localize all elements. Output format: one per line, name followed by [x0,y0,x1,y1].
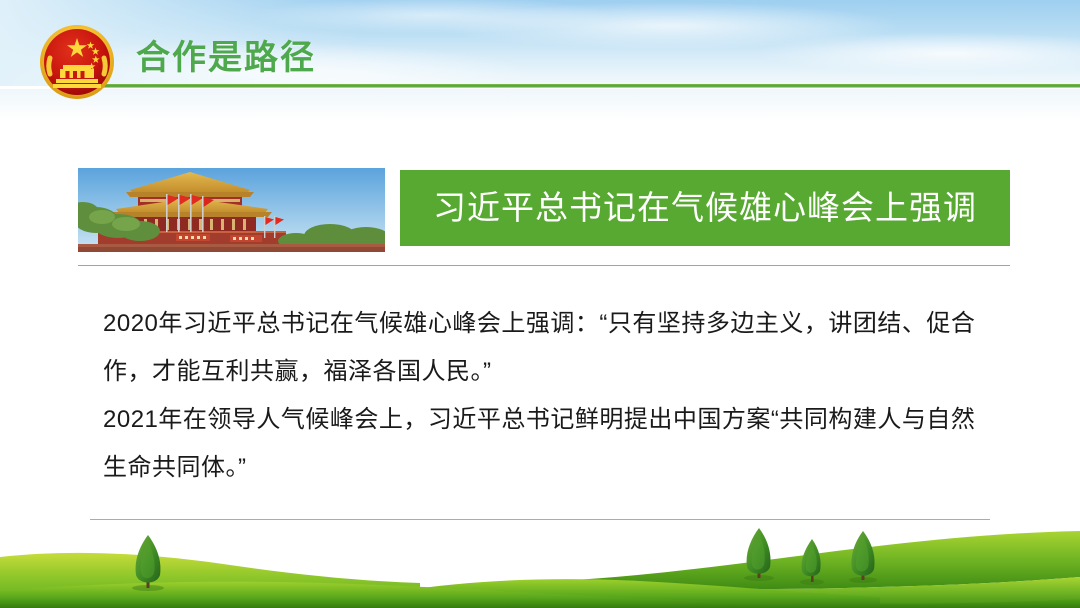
footer-divider [90,519,990,520]
section-banner: 习近平总书记在气候雄心峰会上强调 [400,170,1010,246]
section-banner-text: 习近平总书记在气候雄心峰会上强调 [433,188,977,228]
paragraph-1: 2020年习近平总书记在气候雄心峰会上强调：“只有坚持多边主义，讲团结、促合作，… [103,300,993,396]
header-green-rule-right [540,84,1080,88]
slide-canvas: 合作是路径 [0,0,1080,608]
slide-header: 合作是路径 [0,0,1080,120]
footer-decoration [0,495,1080,608]
tiananmen-gate-photo [78,168,385,252]
content-divider [78,265,1010,266]
header-lower-fade [0,89,1080,120]
page-title: 合作是路径 [136,36,316,80]
body-text: 2020年习近平总书记在气候雄心峰会上强调：“只有坚持多边主义，讲团结、促合作，… [103,300,993,492]
paragraph-2: 2021年在领导人气候峰会上，习近平总书记鲜明提出中国方案“共同构建人与自然生命… [103,396,993,492]
china-national-emblem-icon [39,24,115,100]
